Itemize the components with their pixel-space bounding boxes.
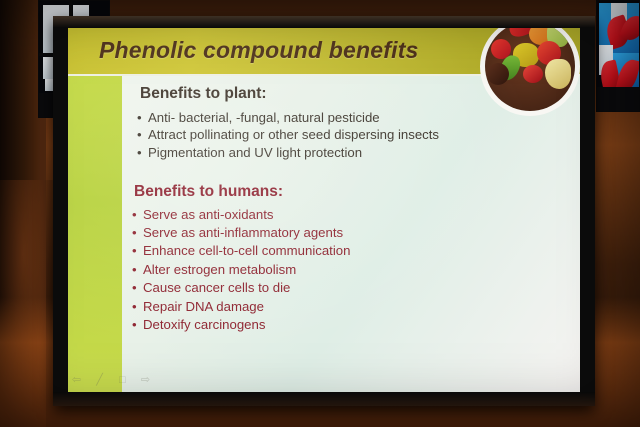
page-title: Phenolic compound benefits	[99, 37, 419, 64]
slideshow-controls[interactable]: ⇦ ╱ □ ⇨	[70, 374, 152, 386]
list-item: Cause cancer cells to die	[132, 279, 574, 297]
presentation-slide[interactable]: Phenolic compound benefits Benefits to p…	[68, 28, 580, 392]
stained-glass-window-right	[596, 0, 640, 112]
list-item: Anti- bacterial, -fungal, natural pestic…	[137, 109, 574, 127]
slide-menu-icon[interactable]: □	[116, 374, 129, 386]
bullet-list-humans: Serve as anti-oxidants Serve as anti-inf…	[132, 206, 574, 335]
list-item: Pigmentation and UV light protection	[137, 144, 574, 162]
section-heading-plant: Benefits to plant:	[140, 86, 574, 102]
list-item: Detoxify carcinogens	[132, 316, 574, 334]
list-item: Serve as anti-inflammatory agents	[132, 224, 574, 242]
glass-lead-line	[597, 87, 639, 112]
screen-top-bar	[53, 16, 595, 28]
pen-tool-icon[interactable]: ╱	[93, 374, 106, 386]
section-heading-humans: Benefits to humans:	[134, 184, 574, 200]
list-item: Serve as anti-oxidants	[132, 206, 574, 224]
screen-bottom-bar	[53, 392, 595, 406]
list-item: Repair DNA damage	[132, 298, 574, 316]
list-item: Enhance cell-to-cell communication	[132, 242, 574, 260]
list-item: Alter estrogen metabolism	[132, 261, 574, 279]
list-item: Attract pollinating or other seed disper…	[137, 126, 574, 144]
previous-slide-icon[interactable]: ⇦	[70, 374, 83, 386]
slide-left-stripe	[68, 76, 122, 392]
bullet-list-plant: Anti- bacterial, -fungal, natural pestic…	[137, 109, 574, 162]
next-slide-icon[interactable]: ⇨	[139, 374, 152, 386]
slide-content: Benefits to plant: Anti- bacterial, -fun…	[132, 78, 574, 392]
projection-screen: Phenolic compound benefits Benefits to p…	[53, 16, 595, 406]
